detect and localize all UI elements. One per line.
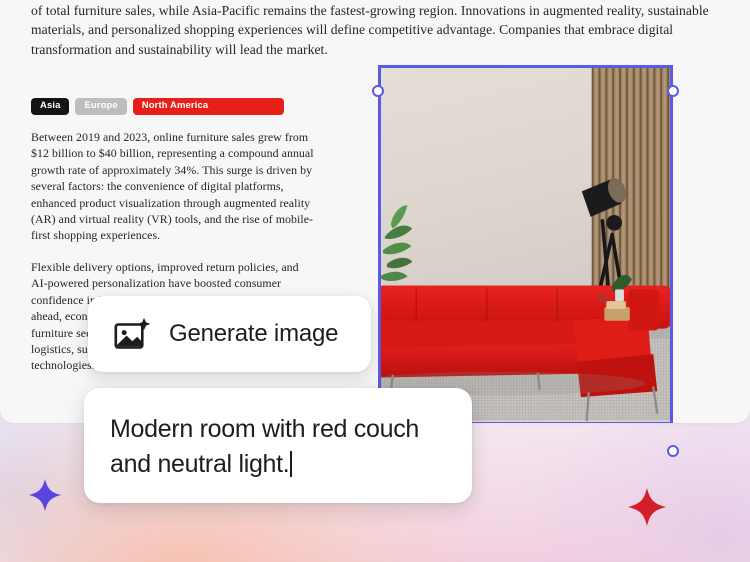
generated-room-photo bbox=[381, 68, 670, 421]
resize-handle-top-left[interactable] bbox=[372, 85, 384, 97]
image-prompt-value: Modern room with red couch and neutral l… bbox=[110, 415, 426, 478]
document-body-paragraph-1: Between 2019 and 2023, online furniture … bbox=[31, 129, 314, 244]
region-tag-group: Asia Europe North America bbox=[31, 98, 284, 115]
tag-north-america[interactable]: North America bbox=[133, 98, 284, 115]
generate-image-button[interactable]: Generate image bbox=[88, 296, 371, 372]
sparkle-red-icon bbox=[627, 487, 667, 527]
selected-image-frame[interactable] bbox=[378, 65, 673, 423]
image-prompt-text[interactable]: Modern room with red couch and neutral l… bbox=[110, 412, 446, 482]
resize-handle-top-right[interactable] bbox=[667, 85, 679, 97]
image-prompt-input[interactable]: Modern room with red couch and neutral l… bbox=[84, 388, 472, 503]
text-caret bbox=[290, 451, 292, 477]
tag-asia[interactable]: Asia bbox=[31, 98, 69, 115]
tag-europe[interactable]: Europe bbox=[75, 98, 126, 115]
generate-image-icon bbox=[114, 317, 152, 351]
resize-handle-bottom-right[interactable] bbox=[667, 445, 679, 457]
sparkle-purple-icon bbox=[28, 478, 62, 512]
document-top-paragraph: of total furniture sales, while Asia-Pac… bbox=[31, 1, 721, 59]
generate-image-label: Generate image bbox=[169, 320, 338, 348]
